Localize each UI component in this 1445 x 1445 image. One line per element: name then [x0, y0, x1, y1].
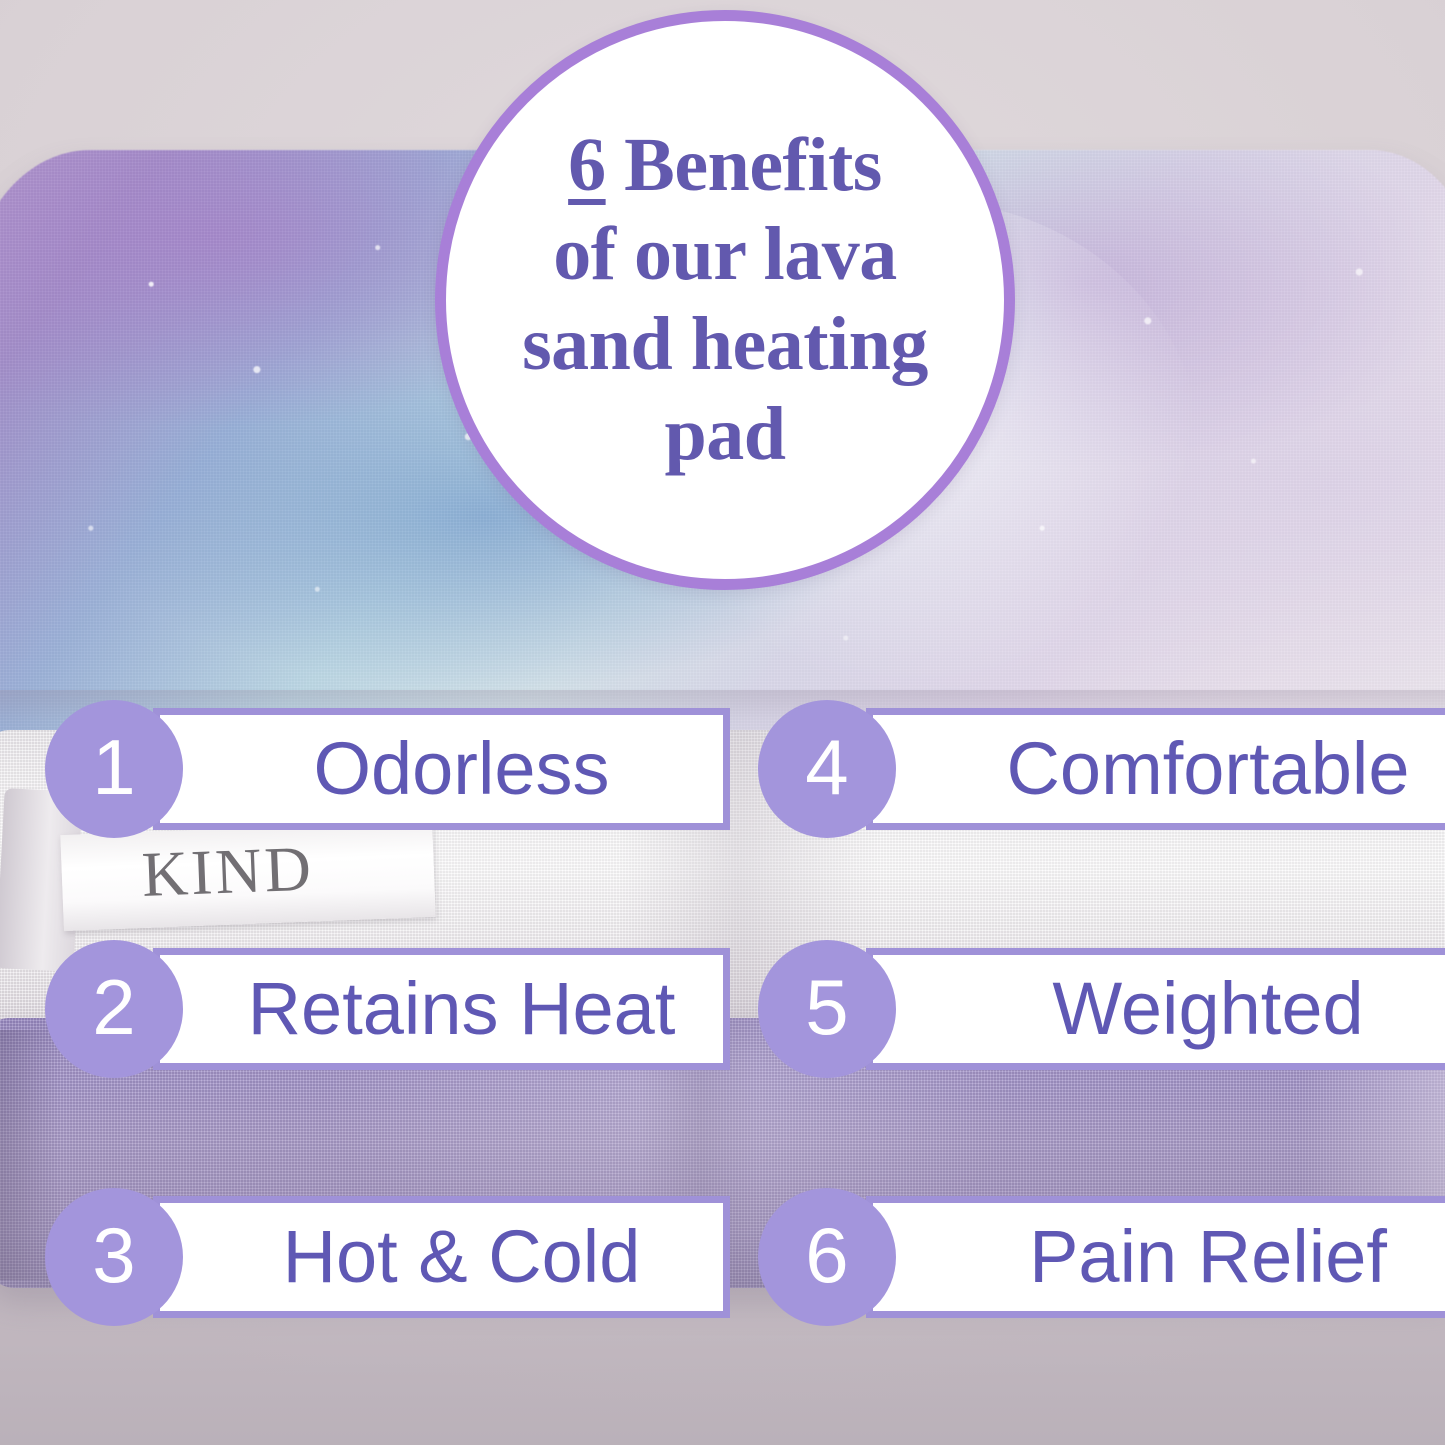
benefit-number-badge-5: 5	[758, 940, 896, 1078]
benefit-number-6: 6	[805, 1216, 848, 1294]
title-badge: 6 Benefits of our lava sand heating pad	[435, 10, 1015, 590]
benefit-number-badge-2: 2	[45, 940, 183, 1078]
benefit-number-3: 3	[92, 1216, 135, 1294]
benefit-number-badge-1: 1	[45, 700, 183, 838]
benefit-number-badge-6: 6	[758, 1188, 896, 1326]
benefit-bar-5: Weighted	[866, 948, 1445, 1070]
benefit-number-badge-3: 3	[45, 1188, 183, 1326]
title-line4: pad	[664, 392, 785, 476]
benefit-number-badge-4: 4	[758, 700, 896, 838]
benefit-bar-3: Hot & Cold	[153, 1196, 730, 1318]
benefit-bar-6: Pain Relief	[866, 1196, 1445, 1318]
benefit-label-2: Retains Heat	[208, 972, 676, 1046]
benefit-bar-4: Comfortable	[866, 708, 1445, 830]
benefit-number-1: 1	[92, 728, 135, 806]
benefit-bar-2: Retains Heat	[153, 948, 730, 1070]
title-number: 6	[568, 123, 606, 207]
benefit-label-6: Pain Relief	[989, 1220, 1387, 1294]
benefit-label-4: Comfortable	[966, 732, 1409, 806]
title-line2: of our lava	[553, 212, 897, 296]
benefit-label-3: Hot & Cold	[243, 1220, 641, 1294]
product-infographic: KIND 6 Benefits of our lava sand heating…	[0, 0, 1445, 1445]
benefit-label-1: Odorless	[273, 732, 609, 806]
benefit-number-2: 2	[92, 968, 135, 1046]
benefit-label-5: Weighted	[1012, 972, 1363, 1046]
title-line1-rest: Benefits	[606, 123, 882, 207]
benefit-bar-1: Odorless	[153, 708, 730, 830]
benefit-number-4: 4	[805, 728, 848, 806]
brand-tag-text: KIND	[140, 831, 315, 912]
page-title: 6 Benefits of our lava sand heating pad	[495, 121, 955, 480]
benefit-number-5: 5	[805, 968, 848, 1046]
title-line3: sand heating	[522, 302, 928, 386]
